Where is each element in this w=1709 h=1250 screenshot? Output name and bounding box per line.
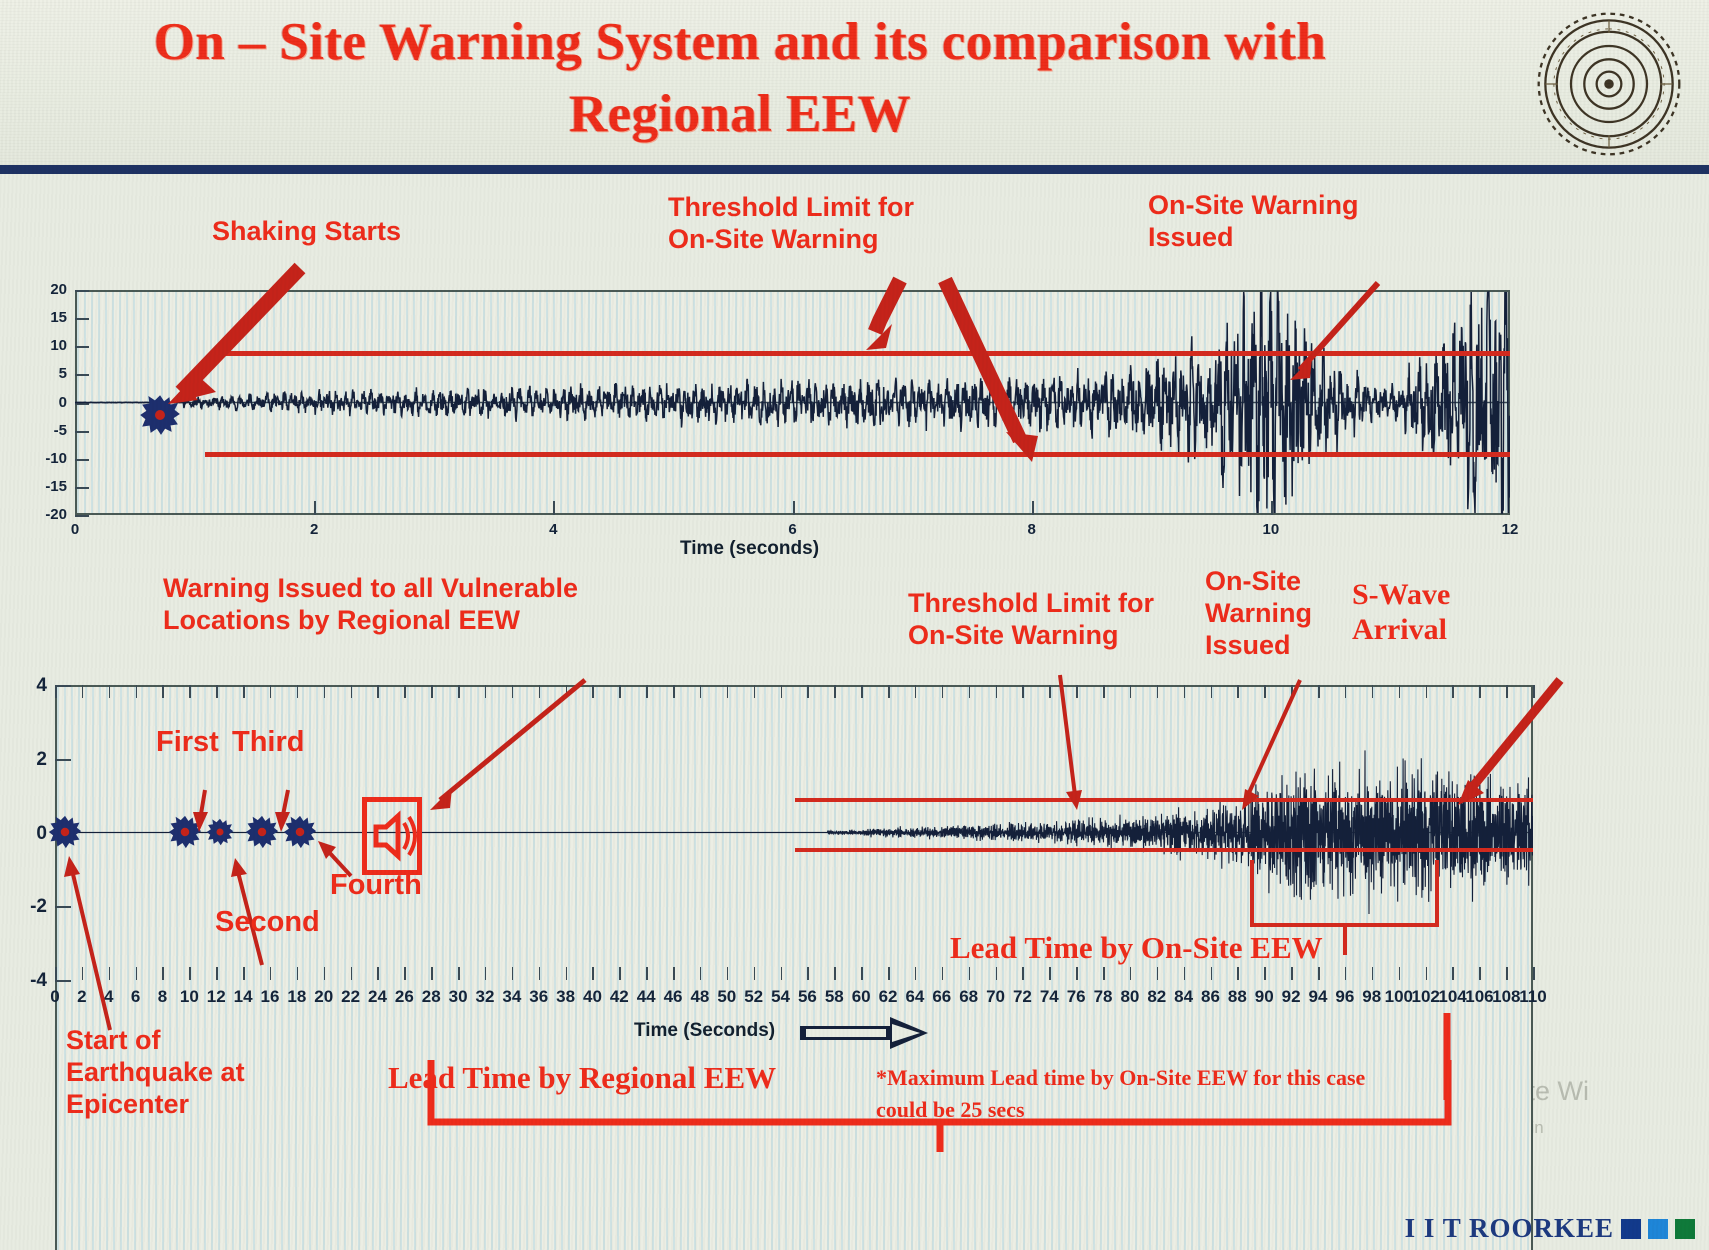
page-title: On – Site Warning System and its compari… xyxy=(150,6,1330,150)
chart-bottom-x-tick: 16 xyxy=(256,987,284,1007)
chart-bottom-x-tick: 18 xyxy=(283,987,311,1007)
footer-square-1 xyxy=(1621,1219,1641,1239)
annotation-lead-time-regional: Lead Time by Regional EEW xyxy=(388,1060,776,1097)
marker-first-warning xyxy=(168,815,202,849)
chart-bottom-x-tick: 104 xyxy=(1438,987,1466,1007)
chart-bottom-x-tick: 108 xyxy=(1492,987,1520,1007)
chart-bottom-x-tick: 84 xyxy=(1170,987,1198,1007)
chart-bottom-x-tick: 90 xyxy=(1250,987,1278,1007)
chart-bottom-x-tick: 34 xyxy=(498,987,526,1007)
chart-bottom-x-tick: 14 xyxy=(229,987,257,1007)
chart-bottom-y-tick: -2 xyxy=(9,896,47,918)
annotation-s-wave-arrival: S-Wave Arrival xyxy=(1352,577,1450,648)
annotation-fourth: Fourth xyxy=(330,868,422,902)
chart-top-y-tick: 0 xyxy=(27,394,67,411)
chart-bottom-x-tick: 30 xyxy=(444,987,472,1007)
chart-bottom-x-tick: 10 xyxy=(175,987,203,1007)
chart-bottom-x-tick: 0 xyxy=(41,987,69,1007)
footer-square-3 xyxy=(1675,1219,1695,1239)
chart-bottom-x-tick: 106 xyxy=(1465,987,1493,1007)
chart-top-x-tick: 2 xyxy=(300,521,328,538)
chart-bottom-x-tick: 42 xyxy=(605,987,633,1007)
chart-bottom-x-tick: 46 xyxy=(659,987,687,1007)
annotation-onsite-warning-issued-bottom: On-Site Warning Issued xyxy=(1205,566,1312,662)
chart-bottom-x-axis-label: Time (Seconds) xyxy=(634,1020,775,1042)
chart-bottom-x-tick: 22 xyxy=(337,987,365,1007)
slide-header: On – Site Warning System and its compari… xyxy=(0,0,1709,174)
chart-bottom-x-tick: 12 xyxy=(202,987,230,1007)
chart-top-x-tick: 12 xyxy=(1496,521,1524,538)
footer-institute-logo: I I T ROORKEE xyxy=(1405,1213,1695,1244)
regional-warning-speaker-icon xyxy=(362,797,422,875)
chart-top-y-tick: 10 xyxy=(27,337,67,354)
chart-bottom-x-tick: 96 xyxy=(1331,987,1359,1007)
chart-bottom-x-tick: 32 xyxy=(471,987,499,1007)
footer-square-2 xyxy=(1648,1219,1668,1239)
chart-bottom-x-tickmark-bottom xyxy=(1533,967,1535,980)
chart-top-x-tick: 10 xyxy=(1257,521,1285,538)
chart-bottom-x-tick: 102 xyxy=(1412,987,1440,1007)
chart-bottom-y-tick: 0 xyxy=(9,823,47,845)
chart-bottom-threshold-upper xyxy=(795,798,1533,802)
chart-bottom-x-tick: 68 xyxy=(955,987,983,1007)
chart-top-waveform xyxy=(75,290,1510,515)
chart-bottom-x-tick: 36 xyxy=(525,987,553,1007)
chart-bottom-x-tick: 26 xyxy=(390,987,418,1007)
chart-bottom-x-tick: 70 xyxy=(982,987,1010,1007)
chart-bottom-x-tick: 66 xyxy=(928,987,956,1007)
chart-bottom: 420-2-4 02468101214161820222426283032343… xyxy=(0,560,1709,1100)
chart-bottom-x-tickmark-top xyxy=(1533,685,1535,698)
marker-second-warning xyxy=(206,818,234,846)
chart-bottom-x-tick: 40 xyxy=(578,987,606,1007)
marker-start-of-earthquake xyxy=(48,815,82,849)
annotation-lead-time-onsite: Lead Time by On-Site EEW xyxy=(950,930,1323,967)
chart-bottom-x-tick: 88 xyxy=(1223,987,1251,1007)
chart-top-event-marker xyxy=(140,395,180,435)
annotation-regional-warning: Warning Issued to all Vulnerable Locatio… xyxy=(163,573,578,637)
annotation-first: First xyxy=(156,725,219,759)
chart-top-y-tick: -5 xyxy=(27,422,67,439)
annotation-footnote-max-lead-time: *Maximum Lead time by On-Site EEW for th… xyxy=(876,1062,1365,1126)
chart-bottom-x-tick: 60 xyxy=(847,987,875,1007)
chart-bottom-x-tick: 86 xyxy=(1197,987,1225,1007)
chart-top-x-tick: 0 xyxy=(61,521,89,538)
chart-bottom-x-tick: 92 xyxy=(1277,987,1305,1007)
chart-bottom-x-tick: 58 xyxy=(820,987,848,1007)
chart-bottom-x-tick: 94 xyxy=(1304,987,1332,1007)
chart-top-y-tick: 15 xyxy=(27,309,67,326)
chart-bottom-x-tick: 2 xyxy=(68,987,96,1007)
marker-third-warning xyxy=(245,815,279,849)
time-direction-arrow-icon xyxy=(800,1016,930,1050)
chart-bottom-x-tick: 54 xyxy=(767,987,795,1007)
chart-bottom-y-tickmark xyxy=(55,980,71,982)
chart-bottom-x-tick: 20 xyxy=(310,987,338,1007)
marker-fourth-warning xyxy=(283,815,317,849)
chart-bottom-x-tick: 28 xyxy=(417,987,445,1007)
chart-top-x-axis-label: Time (seconds) xyxy=(680,538,819,560)
chart-bottom-x-tick: 74 xyxy=(1035,987,1063,1007)
chart-bottom-x-tick: 72 xyxy=(1008,987,1036,1007)
chart-bottom-x-tick: 24 xyxy=(363,987,391,1007)
chart-top-x-tick: 8 xyxy=(1018,521,1046,538)
chart-bottom-x-tick: 64 xyxy=(901,987,929,1007)
annotation-shaking-starts: Shaking Starts xyxy=(212,216,401,248)
chart-bottom-x-tick: 56 xyxy=(793,987,821,1007)
chart-bottom-threshold-lower xyxy=(795,848,1533,852)
chart-bottom-x-tick: 4 xyxy=(95,987,123,1007)
chart-bottom-x-tick: 48 xyxy=(686,987,714,1007)
chart-bottom-x-tick: 50 xyxy=(713,987,741,1007)
chart-top-y-tickmark xyxy=(75,515,89,517)
annotation-start-of-earthquake: Start of Earthquake at Epicenter xyxy=(66,1025,245,1121)
chart-top-y-tick: 5 xyxy=(27,365,67,382)
chart-bottom-x-tick: 38 xyxy=(552,987,580,1007)
chart-bottom-x-tick: 62 xyxy=(874,987,902,1007)
chart-bottom-x-tick: 76 xyxy=(1062,987,1090,1007)
chart-bottom-x-tick: 52 xyxy=(740,987,768,1007)
annotation-third: Third xyxy=(232,725,305,759)
iit-roorkee-emblem-icon xyxy=(1533,8,1685,160)
chart-bottom-x-tick: 44 xyxy=(632,987,660,1007)
chart-bottom-x-tick: 98 xyxy=(1358,987,1386,1007)
chart-top-x-tick: 6 xyxy=(779,521,807,538)
chart-bottom-x-tick: 110 xyxy=(1519,987,1547,1007)
chart-top-threshold-upper xyxy=(220,351,1510,356)
chart-bottom-y-tick: 2 xyxy=(9,749,47,771)
footer-institute-name: I I T ROORKEE xyxy=(1405,1213,1614,1244)
chart-bottom-x-tick: 6 xyxy=(122,987,150,1007)
chart-bottom-x-tick: 80 xyxy=(1116,987,1144,1007)
annotation-threshold-limit-bottom: Threshold Limit for On-Site Warning xyxy=(908,588,1154,652)
annotation-threshold-limit-top: Threshold Limit for On-Site Warning xyxy=(668,192,914,256)
chart-top-y-tick: -15 xyxy=(27,478,67,495)
annotation-onsite-warning-issued-top: On-Site Warning Issued xyxy=(1148,190,1359,254)
chart-top-y-tick: 20 xyxy=(27,281,67,298)
chart-bottom-x-tick: 100 xyxy=(1385,987,1413,1007)
chart-top-y-tick: -10 xyxy=(27,450,67,467)
chart-top-x-tick: 4 xyxy=(539,521,567,538)
chart-bottom-x-tick: 8 xyxy=(148,987,176,1007)
chart-bottom-x-tick: 78 xyxy=(1089,987,1117,1007)
chart-top-threshold-lower xyxy=(205,452,1510,457)
chart-bottom-y-tick: 4 xyxy=(9,675,47,697)
annotation-second: Second xyxy=(215,905,320,939)
chart-bottom-x-tick: 82 xyxy=(1143,987,1171,1007)
